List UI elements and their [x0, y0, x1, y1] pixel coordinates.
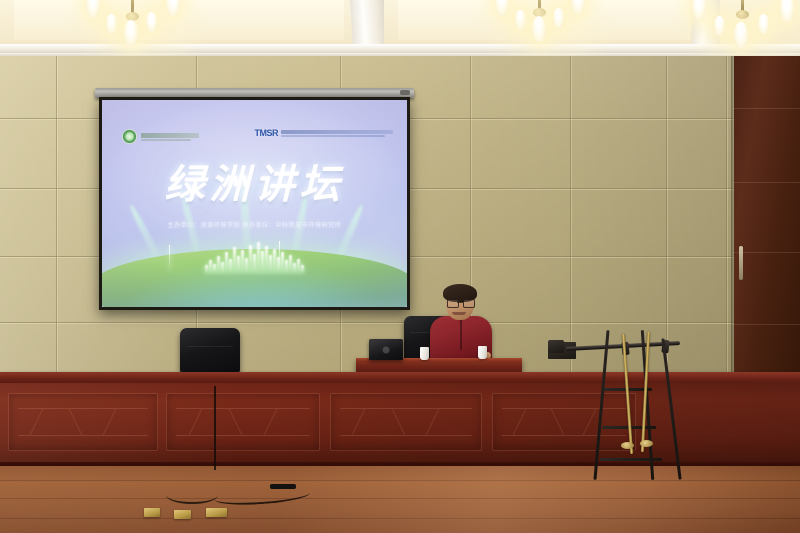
panel-diamond-line [69, 409, 109, 435]
presentation-slide: TMSR 绿洲讲坛 主办单位：资源环境学院 承办单位：中科院城市环境研究所 [102, 100, 407, 307]
mic-base-3[interactable] [206, 508, 227, 517]
chair-left[interactable] [180, 328, 240, 374]
panel-diamond-line [352, 409, 392, 435]
projection-screen[interactable]: TMSR 绿洲讲坛 主办单位：资源环境学院 承办单位：中科院城市环境研究所 [99, 88, 410, 310]
bulb [734, 22, 748, 48]
bulb [692, 0, 706, 20]
rail-end-box [548, 340, 564, 353]
laptop[interactable] [369, 339, 403, 360]
bulb [515, 10, 526, 30]
mic-base-2[interactable] [174, 510, 191, 519]
stand-rung [600, 458, 662, 461]
stage-front-paneling [0, 383, 800, 465]
panel-diamond-line [30, 409, 70, 435]
banner-pole-foot-right [640, 440, 653, 447]
bulb [532, 16, 546, 42]
panel-diamond [176, 408, 310, 436]
panel-diamond [18, 408, 148, 436]
panel-diamond-line [229, 409, 269, 435]
panel-diamond-line [426, 409, 466, 435]
glasses-icon [447, 299, 473, 306]
wall-seam [570, 56, 571, 386]
banner-pole-left [622, 334, 633, 454]
door-seam [734, 252, 800, 253]
banner-pole-foot-left [621, 442, 634, 449]
hanging-cable [214, 386, 216, 470]
bulb [714, 16, 725, 36]
glasses-lens [447, 299, 459, 308]
stage-panel [166, 393, 320, 451]
side-door[interactable] [734, 56, 800, 401]
wall-seam [56, 56, 57, 386]
panel-diamond-line [513, 409, 553, 435]
bulb [780, 0, 794, 22]
bulb [758, 14, 769, 34]
door-handle[interactable] [739, 246, 743, 280]
screen-frame: TMSR 绿洲讲坛 主办单位：资源环境学院 承办单位：中科院城市环境研究所 [99, 97, 410, 310]
bulb [106, 14, 117, 34]
panel-diamond-line [103, 409, 143, 435]
panel-diamond [340, 408, 472, 436]
panel-diamond-line [188, 409, 228, 435]
slide-vignette [102, 100, 407, 307]
bulb [553, 8, 564, 28]
lecture-hall-scene: TMSR 绿洲讲坛 主办单位：资源环境学院 承办单位：中科院城市环境研究所 [0, 0, 800, 533]
panel-diamond-line [392, 409, 432, 435]
wall-seam [0, 322, 800, 323]
screen-roller-cap [400, 90, 410, 95]
mic-base-1[interactable] [144, 508, 160, 517]
door-seam [734, 108, 800, 109]
wall-seam [726, 56, 727, 386]
speaker-shirt-placket [460, 320, 462, 350]
speaker-mouth [452, 312, 466, 315]
floor-cable [166, 486, 218, 504]
door-seam [734, 324, 800, 325]
bulb [124, 20, 138, 46]
panel-diamond-line [263, 409, 303, 435]
chandelier-right-hub [736, 10, 749, 19]
stage-panel [330, 393, 482, 451]
chair-seam [187, 346, 233, 347]
paper-cup-right[interactable] [478, 346, 487, 359]
banner-stand[interactable] [596, 330, 678, 480]
paper-cup-left[interactable] [420, 347, 429, 360]
stage-panel [8, 393, 158, 451]
door-seam [734, 182, 800, 183]
laptop-logo-icon [383, 346, 390, 353]
bulb [146, 12, 157, 32]
cable-connector [270, 484, 296, 489]
glasses-lens [463, 299, 475, 308]
